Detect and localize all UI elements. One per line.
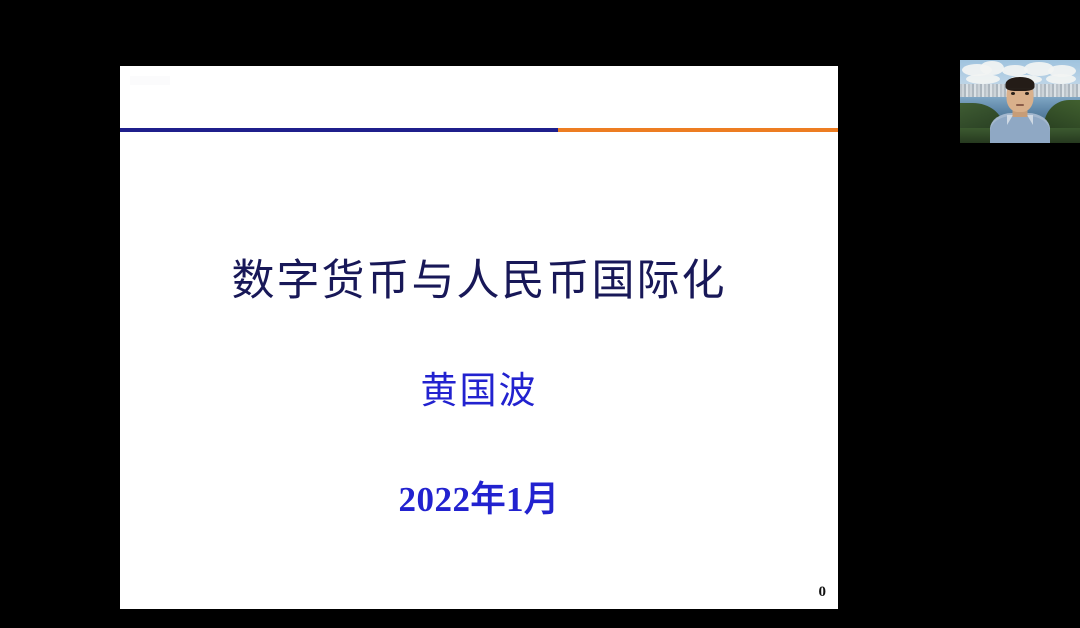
- slide-date: 2022年1月: [120, 481, 838, 520]
- participant-eye-right: [1025, 92, 1029, 95]
- cloud-shape: [1046, 74, 1076, 84]
- slide-page-number: 0: [819, 584, 827, 601]
- header-rule-navy-segment: [120, 128, 558, 132]
- webcam-tile[interactable]: [960, 36, 1080, 146]
- webcam-video-feed: [960, 60, 1080, 143]
- presentation-slide[interactable]: 数字货币与人民币国际化 黄国波 2022年1月 黄国波 数字货币与人民币国际化 …: [120, 66, 838, 609]
- slide-title: 数字货币与人民币国际化: [120, 258, 838, 305]
- slide-author: 黄国波: [120, 372, 838, 413]
- header-rule-orange-segment: [558, 128, 838, 132]
- participant-mouth: [1016, 104, 1024, 106]
- shirt-collar-right: [1027, 115, 1033, 125]
- participant-torso: [990, 113, 1050, 143]
- screen-share-stage: 数字货币与人民币国际化 黄国波 2022年1月 黄国波 数字货币与人民币国际化 …: [0, 0, 1080, 628]
- slide-header-rule: [120, 128, 838, 132]
- cloud-shape: [980, 61, 1004, 75]
- participant-eye-left: [1011, 92, 1015, 95]
- cloud-shape: [966, 74, 1000, 84]
- slide-corner-artifact: [130, 76, 170, 85]
